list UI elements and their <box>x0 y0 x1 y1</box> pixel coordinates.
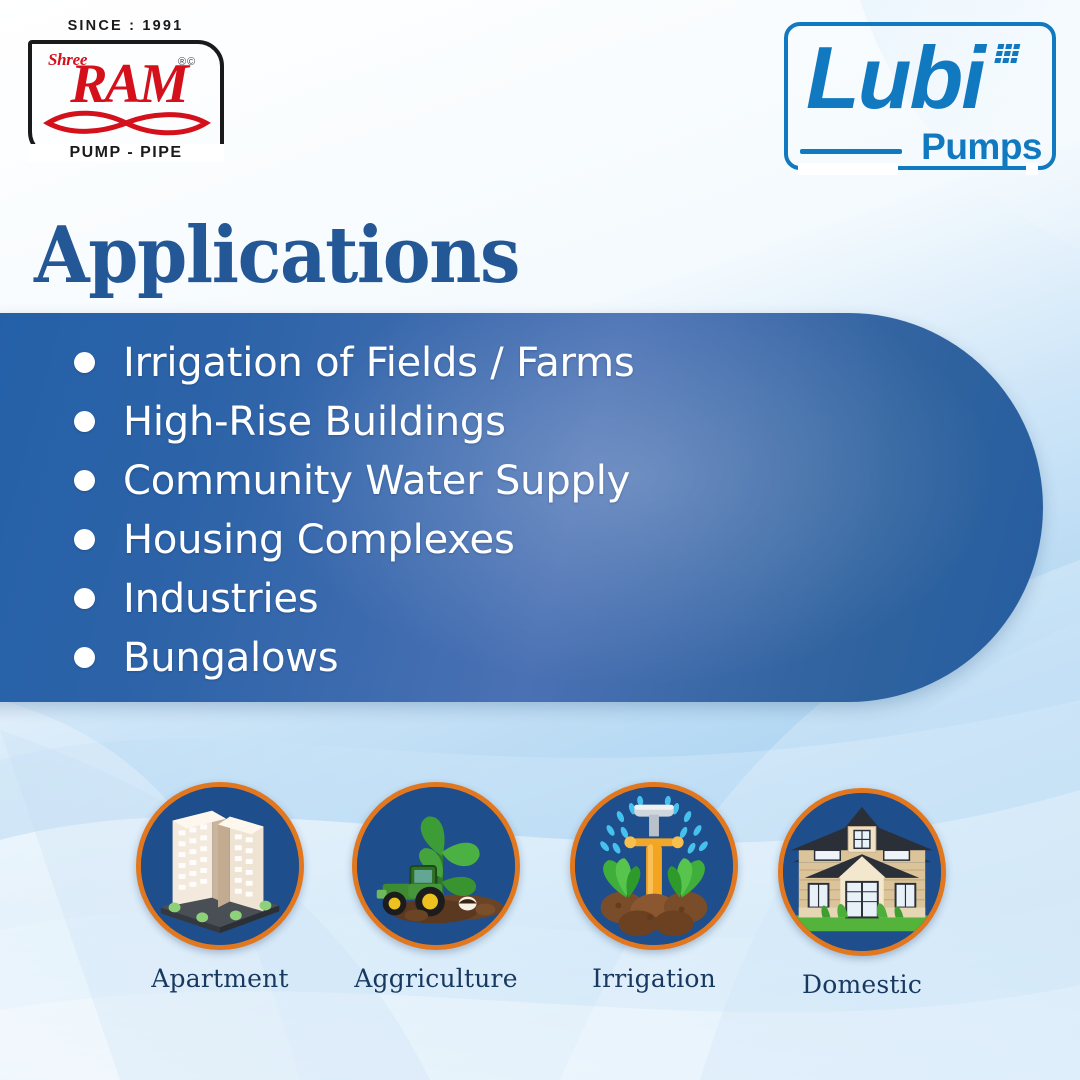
trademark-marks: ®© <box>178 56 196 68</box>
lubi-frame-gap-left <box>798 163 898 175</box>
list-item: Community Water Supply <box>74 451 894 510</box>
poster-canvas: SINCE : 1991 Shree RAM ®© PUMP - PIPE Lu… <box>0 0 1080 1080</box>
applications-list: Irrigation of Fields / Farms High-Rise B… <box>74 333 894 687</box>
icon-circle <box>352 782 520 950</box>
pump-pipe-label: PUMP - PIPE <box>28 144 224 162</box>
list-item-label: Housing Complexes <box>123 517 515 563</box>
sprinkler-icon <box>575 787 733 945</box>
list-item-label: Community Water Supply <box>123 458 630 504</box>
list-item: Bungalows <box>74 628 894 687</box>
bullet-dot-icon <box>74 647 95 668</box>
bullet-dot-icon <box>74 352 95 373</box>
list-item: High-Rise Buildings <box>74 392 894 451</box>
list-item-label: Irrigation of Fields / Farms <box>123 340 634 386</box>
icon-card-irrigation: Irrigation <box>554 782 754 993</box>
shree-ram-logo: SINCE : 1991 Shree RAM ®© PUMP - PIPE <box>18 18 233 168</box>
icon-circle <box>136 782 304 950</box>
ram-swirl-icon <box>42 110 212 136</box>
list-item-label: Bungalows <box>123 635 338 681</box>
lubi-grid-dots-icon <box>994 44 1023 66</box>
icon-card-label: Aggriculture <box>336 964 536 993</box>
bullet-dot-icon <box>74 411 95 432</box>
list-item-label: High-Rise Buildings <box>123 399 506 445</box>
lubi-underline <box>800 149 902 154</box>
icon-card-label: Irrigation <box>554 964 754 993</box>
house-icon <box>783 793 941 951</box>
icon-card-label: Apartment <box>120 964 320 993</box>
icon-circle <box>570 782 738 950</box>
lubi-wordmark: Lubi <box>806 32 984 124</box>
icon-card-label: Domestic <box>762 970 962 999</box>
bullet-dot-icon <box>74 588 95 609</box>
lubi-pumps-logo: Lubi Pumps <box>784 22 1056 170</box>
icon-card-agriculture: Aggriculture <box>336 782 536 993</box>
list-item: Industries <box>74 569 894 628</box>
bullet-dot-icon <box>74 470 95 491</box>
lubi-pumps-subtitle: Pumps <box>921 126 1042 168</box>
icon-circle <box>778 788 946 956</box>
list-item-label: Industries <box>123 576 318 622</box>
list-item: Irrigation of Fields / Farms <box>74 333 894 392</box>
bullet-dot-icon <box>74 529 95 550</box>
list-item: Housing Complexes <box>74 510 894 569</box>
application-icons-row: Apartment <box>0 770 1080 1020</box>
tractor-plant-icon <box>357 787 515 945</box>
since-label: SINCE : 1991 <box>18 18 233 34</box>
icon-card-domestic: Domestic <box>762 788 962 999</box>
icon-card-apartment: Apartment <box>120 782 320 993</box>
page-title: Applications <box>34 210 519 301</box>
apartment-buildings-icon <box>141 787 299 945</box>
